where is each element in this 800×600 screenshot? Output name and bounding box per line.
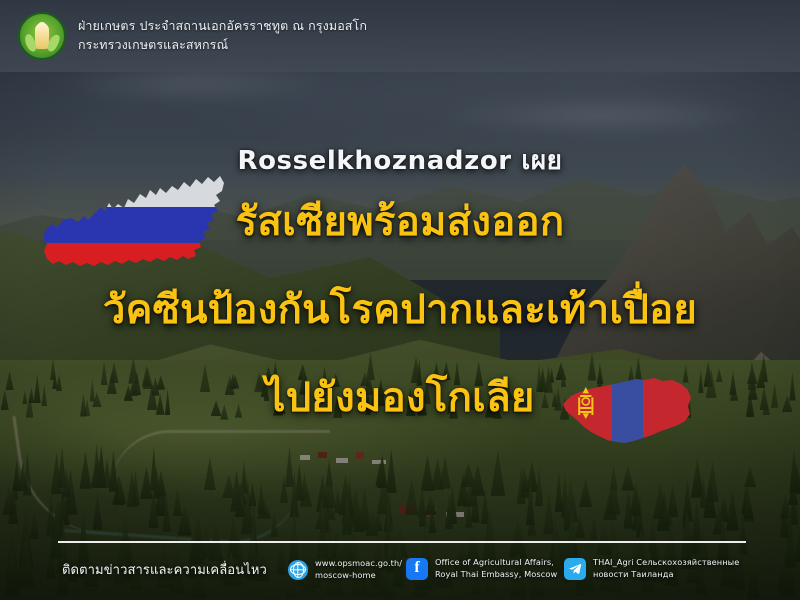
follow-us-label: ติดตามข่าวสารและความเคลื่อนไหว xyxy=(62,559,267,580)
channel-facebook[interactable]: f Office of Agricultural Affairs, Royal … xyxy=(406,557,557,581)
telegram-line-2: новости Таиланда xyxy=(593,569,674,579)
website-line-2: moscow-home xyxy=(315,570,376,580)
channel-website-text: www.opsmoac.go.th/ moscow-home xyxy=(315,558,402,582)
telegram-line-1: THAI_Agri Сельскохозяйственные xyxy=(593,557,739,567)
footer-divider xyxy=(58,541,746,543)
thai-ministry-of-agriculture-emblem-icon xyxy=(18,12,66,60)
channel-telegram-text: THAI_Agri Сельскохозяйственные новости Т… xyxy=(593,557,739,581)
website-line-1: www.opsmoac.go.th/ xyxy=(315,558,402,568)
eyebrow-text: Rosselkhoznadzor เผย xyxy=(0,140,800,181)
header-text-block: ฝ่ายเกษตร ประจำสถานเอกอัครราชทูต ณ กรุงม… xyxy=(78,18,367,54)
channel-website[interactable]: www.opsmoac.go.th/ moscow-home xyxy=(288,558,402,582)
channel-telegram[interactable]: THAI_Agri Сельскохозяйственные новости Т… xyxy=(564,557,739,581)
channel-facebook-text: Office of Agricultural Affairs, Royal Th… xyxy=(435,557,557,581)
facebook-icon: f xyxy=(406,558,428,580)
header-ministry-line: กระทรวงเกษตรและสหกรณ์ xyxy=(78,37,367,54)
headline-line-1: รัสเซียพร้อมส่งออก xyxy=(0,200,800,245)
header-office-line: ฝ่ายเกษตร ประจำสถานเอกอัครราชทูต ณ กรุงม… xyxy=(78,18,367,35)
headline-line-3: ไปยังมองโกเลีย xyxy=(0,376,800,421)
globe-icon xyxy=(288,560,308,580)
facebook-line-2: Royal Thai Embassy, Moscow xyxy=(435,569,557,579)
telegram-icon xyxy=(564,558,586,580)
header-bar: ฝ่ายเกษตร ประจำสถานเอกอัครราชทูต ณ กรุงม… xyxy=(0,0,800,72)
infographic-poster: ฝ่ายเกษตร ประจำสถานเอกอัครราชทูต ณ กรุงม… xyxy=(0,0,800,600)
headline-line-2: วัคซีนป้องกันโรคปากและเท้าเปื่อย xyxy=(0,288,800,333)
facebook-line-1: Office of Agricultural Affairs, xyxy=(435,557,554,567)
